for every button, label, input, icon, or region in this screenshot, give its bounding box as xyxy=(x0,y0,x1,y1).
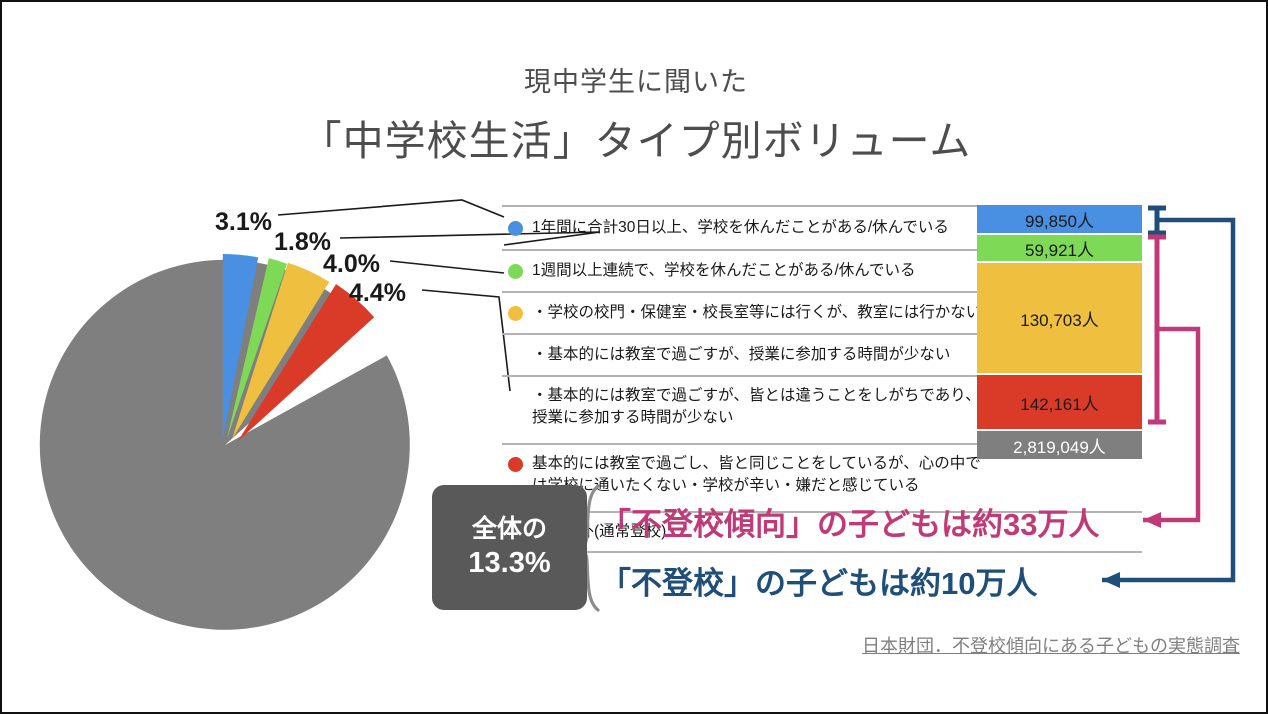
value-cell-partial: 130,703人 xyxy=(977,263,1142,375)
pie-label-hidden: 4.4% xyxy=(349,279,406,308)
pie-label-partial: 4.0% xyxy=(323,250,380,279)
value-label: 142,161人 xyxy=(1020,390,1098,415)
pink-bracket xyxy=(1148,237,1166,422)
value-column: 99,850人 59,921人 130,703人 142,161人 2,819,… xyxy=(977,205,1142,459)
value-label: 130,703人 xyxy=(1020,306,1098,331)
slide-canvas: 現中学生に聞いた 「中学校生活」タイプ別ボリューム 86.7% 3.1% 1.8… xyxy=(0,0,1268,714)
legend-dot-cell xyxy=(502,335,528,375)
value-cell-absent30: 99,850人 xyxy=(977,205,1142,235)
badge-line-1: 全体の xyxy=(472,514,547,545)
navy-bracket xyxy=(1148,208,1166,233)
callout-futoko-keiko: 「不登校傾向」の子どもは約33万人 xyxy=(600,499,1099,544)
pink-connector xyxy=(1143,329,1198,520)
legend-dot-cell xyxy=(502,293,528,333)
callout-futoko: 「不登校」の子どもは約10万人 xyxy=(600,558,1037,603)
legend-dot-cell xyxy=(502,377,528,443)
leader-line-absent30 xyxy=(278,200,504,217)
pink-arrowhead xyxy=(1143,512,1161,528)
legend-dot-cell xyxy=(502,207,528,249)
navy-arrowhead xyxy=(1102,572,1120,588)
value-label: 2,819,049人 xyxy=(1013,433,1106,458)
bullet-icon-absentweek xyxy=(508,264,523,279)
value-cell-absentweek: 59,921人 xyxy=(977,235,1142,263)
legend-label-line: は学校に通いたくない・学校が辛い・嫌だと感じている xyxy=(532,475,1136,497)
pie-label-absent30: 3.1% xyxy=(215,208,272,237)
value-label: 59,921人 xyxy=(1025,236,1094,261)
badge-line-2: 13.3% xyxy=(468,545,550,581)
bullet-icon-hidden xyxy=(508,457,523,472)
legend-dot-cell xyxy=(502,251,528,291)
title-subtitle: 現中学生に聞いた xyxy=(2,60,1268,99)
value-cell-hidden: 142,161人 xyxy=(977,375,1142,431)
total-percent-badge: 全体の 13.3% xyxy=(432,485,587,610)
bullet-icon-partial xyxy=(508,306,523,321)
page-title: 「中学校生活」タイプ別ボリューム xyxy=(2,107,1268,167)
value-cell-other: 2,819,049人 xyxy=(977,431,1142,459)
source-text: 日本財団．不登校傾向にある子どもの実態調査 xyxy=(862,636,1240,656)
bullet-icon-absent30 xyxy=(508,221,523,236)
pie-label-other: 86.7% xyxy=(134,702,230,714)
source-citation: 日本財団．不登校傾向にある子どもの実態調査 xyxy=(2,632,1240,658)
value-label: 99,850人 xyxy=(1025,207,1094,232)
